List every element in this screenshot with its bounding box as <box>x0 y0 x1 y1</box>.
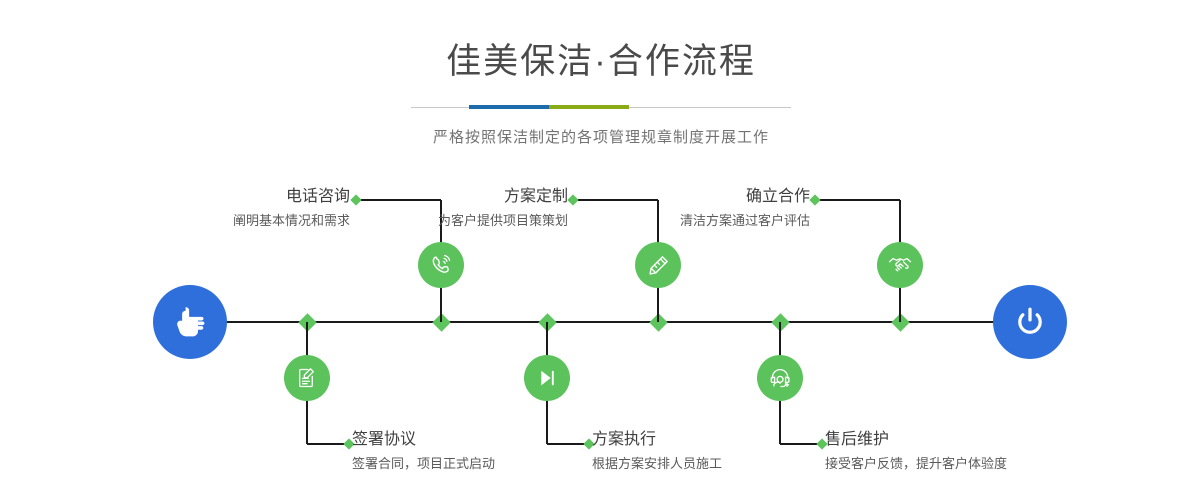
power-icon <box>1010 302 1050 342</box>
step-label-6: 售后维护 接受客户反馈，提升客户体验度 <box>825 430 1105 473</box>
page-title: 佳美保洁·合作流程 <box>0 0 1202 79</box>
handshake-icon <box>886 251 914 279</box>
connector-step-6-horizontal <box>780 443 820 444</box>
connector-tip-step-3 <box>567 194 578 205</box>
step-badge-6 <box>757 355 803 401</box>
step-desc-5: 清洁方案通过客户评估 <box>582 212 810 230</box>
step-name-1: 电话咨询 <box>122 187 350 207</box>
pencil-ruler-icon <box>645 252 672 279</box>
step-desc-6: 接受客户反馈，提升客户体验度 <box>825 455 1105 473</box>
step-badge-5 <box>877 242 923 288</box>
step-name-3: 方案定制 <box>340 187 568 207</box>
page-subtitle: 严格按照保洁制定的各项管理规章制度开展工作 <box>0 126 1202 147</box>
page-header: 佳美保洁·合作流程 严格按照保洁制定的各项管理规章制度开展工作 <box>0 0 1202 147</box>
divider-blue-segment <box>469 105 549 109</box>
step-name-6: 售后维护 <box>825 430 1105 450</box>
step-name-4: 方案执行 <box>592 430 842 450</box>
step-desc-4: 根据方案安排人员施工 <box>592 455 842 473</box>
step-desc-2: 签署合同，项目正式启动 <box>352 455 602 473</box>
connector-tip-step-5 <box>809 194 820 205</box>
step-name-5: 确立合作 <box>582 187 810 207</box>
step-desc-1: 阐明基本情况和需求 <box>122 212 350 230</box>
timeline-end-endpoint <box>993 285 1067 359</box>
headset-support-icon <box>767 365 794 392</box>
step-badge-1 <box>418 242 464 288</box>
step-label-4: 方案执行 根据方案安排人员施工 <box>592 430 842 473</box>
timeline-start-endpoint <box>153 285 227 359</box>
connector-step-4-horizontal <box>547 443 587 444</box>
connector-step-2-horizontal <box>307 443 347 444</box>
hand-point-right-icon <box>170 302 210 342</box>
connector-step-5-horizontal <box>816 199 900 200</box>
step-label-1: 电话咨询 阐明基本情况和需求 <box>122 187 350 230</box>
step-badge-3 <box>635 242 681 288</box>
play-forward-icon <box>534 365 560 391</box>
divider-green-segment <box>549 105 629 109</box>
step-label-5: 确立合作 清洁方案通过客户评估 <box>582 187 810 230</box>
flow-diagram-stage: 佳美保洁·合作流程 严格按照保洁制定的各项管理规章制度开展工作 <box>0 0 1202 502</box>
step-badge-4 <box>524 355 570 401</box>
step-label-2: 签署协议 签署合同，项目正式启动 <box>352 430 602 473</box>
step-name-2: 签署协议 <box>352 430 602 450</box>
step-badge-2 <box>284 355 330 401</box>
phone-call-icon <box>428 252 455 279</box>
document-pencil-icon <box>294 365 320 391</box>
title-divider <box>411 101 791 115</box>
step-desc-3: 为客户提供项目策策划 <box>340 212 568 230</box>
step-label-3: 方案定制 为客户提供项目策策划 <box>340 187 568 230</box>
